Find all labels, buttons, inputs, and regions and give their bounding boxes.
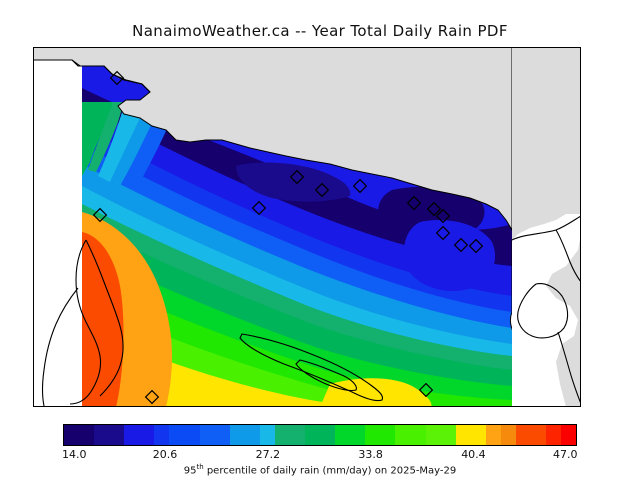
colorbar-tick-label: 40.4 bbox=[461, 448, 486, 461]
colorbar-tick-label: 33.8 bbox=[358, 448, 383, 461]
colorbar-band bbox=[305, 425, 335, 445]
colorbar-band bbox=[260, 425, 275, 445]
blank-left bbox=[33, 47, 82, 407]
colorbar-band bbox=[275, 425, 305, 445]
colorbar-band bbox=[335, 425, 365, 445]
colorbar-band bbox=[456, 425, 486, 445]
colorbar-band bbox=[516, 425, 546, 445]
colorbar-band bbox=[200, 425, 230, 445]
colorbar-band bbox=[561, 425, 576, 445]
colorbar-band bbox=[546, 425, 561, 445]
colorbar-tick-label: 20.6 bbox=[153, 448, 178, 461]
contour-map-svg bbox=[0, 44, 640, 412]
colorbar-band bbox=[124, 425, 154, 445]
caption-text: percentile of daily rain (mm/day) on 202… bbox=[204, 465, 457, 476]
colorbar-band bbox=[154, 425, 169, 445]
caption-value: 95 bbox=[184, 465, 197, 476]
colorbar-band bbox=[64, 425, 94, 445]
colorbar-band bbox=[395, 425, 425, 445]
colorbar-panel: 14.020.627.233.840.447.0 95th percentile… bbox=[0, 424, 640, 480]
colorbar-band bbox=[230, 425, 260, 445]
weather-map-page: NanaimoWeather.ca -- Year Total Daily Ra… bbox=[0, 0, 640, 480]
colorbar-band bbox=[169, 425, 199, 445]
colorbar-caption: 95th percentile of daily rain (mm/day) o… bbox=[0, 463, 640, 476]
colorbar-band bbox=[501, 425, 516, 445]
colorbar-tick-label: 27.2 bbox=[256, 448, 281, 461]
colorbar-band bbox=[426, 425, 456, 445]
caption-ordinal: th bbox=[196, 463, 203, 471]
mainland-east-grey bbox=[512, 47, 581, 240]
map-panel bbox=[0, 44, 640, 412]
page-title: NanaimoWeather.ca -- Year Total Daily Ra… bbox=[0, 22, 640, 40]
colorbar-band bbox=[486, 425, 501, 445]
colorbar-band bbox=[365, 425, 395, 445]
colorbar-band bbox=[94, 425, 124, 445]
colorbar[interactable] bbox=[63, 424, 577, 446]
colorbar-tick-label: 47.0 bbox=[553, 448, 578, 461]
colorbar-tick-label: 14.0 bbox=[62, 448, 87, 461]
colorbar-ticks: 14.020.627.233.840.447.0 bbox=[0, 448, 640, 462]
